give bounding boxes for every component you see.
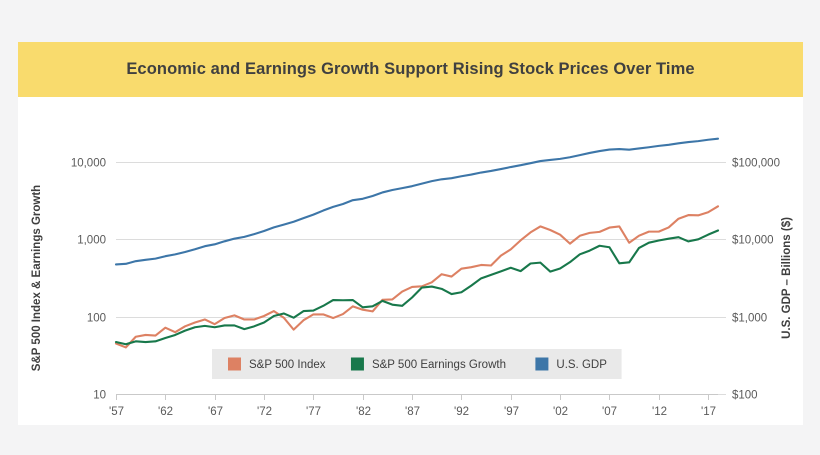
series-line-u-s-gdp <box>116 139 718 265</box>
x-axis-tick-label: '17 <box>701 406 716 418</box>
x-axis-tick-label: '92 <box>454 406 469 418</box>
y-axis-left-tick-label: 10 <box>93 390 106 402</box>
x-axis-tick-label: '77 <box>306 406 321 418</box>
y-axis-left-tick-label: 10,000 <box>71 158 106 170</box>
chart-plot-area: 10,0001,00010010 $100,000$10,000$1,000$1… <box>18 97 803 425</box>
legend-swatch-1[interactable] <box>351 358 364 371</box>
x-axis-tick-label: '72 <box>257 406 272 418</box>
x-axis-tick-label: '97 <box>504 406 519 418</box>
y-axis-right-title: U.S. GDP – Billions ($) <box>781 217 793 339</box>
line-chart: 10,0001,00010010 $100,000$10,000$1,000$1… <box>18 97 803 425</box>
y-axis-left-title: S&P 500 Index & Earnings Growth <box>31 185 43 371</box>
screenshot-root: Economic and Earnings Growth Support Ris… <box>0 0 820 455</box>
chart-card: Economic and Earnings Growth Support Ris… <box>18 42 803 425</box>
series-lines-group <box>116 139 718 348</box>
legend-label-2[interactable]: U.S. GDP <box>556 359 607 371</box>
y-axis-right-tick-label: $100,000 <box>732 158 780 170</box>
legend-swatch-0[interactable] <box>228 358 241 371</box>
x-axis-tick-label: '87 <box>405 406 420 418</box>
legend-label-0[interactable]: S&P 500 Index <box>249 359 326 371</box>
axis-titles-group: S&P 500 Index & Earnings GrowthU.S. GDP … <box>31 185 793 371</box>
y-axis-right-tick-label: $100 <box>732 390 758 402</box>
chart-legend: S&P 500 IndexS&P 500 Earnings GrowthU.S.… <box>212 349 622 379</box>
x-axis-tick-label: '67 <box>208 406 223 418</box>
page-title: Economic and Earnings Growth Support Ris… <box>18 42 803 97</box>
x-axis-tick-label: '82 <box>356 406 371 418</box>
x-axis-tick-label: '62 <box>158 406 173 418</box>
y-axis-left-ticks: 10,0001,00010010 <box>71 158 106 402</box>
y-axis-right-tick-label: $1,000 <box>732 313 767 325</box>
x-axis-tick-label: '02 <box>553 406 568 418</box>
y-axis-right-ticks: $100,000$10,000$1,000$100 <box>718 158 780 402</box>
chart-header-banner: Economic and Earnings Growth Support Ris… <box>18 42 803 97</box>
y-axis-left-tick-label: 1,000 <box>77 235 106 247</box>
legend-swatch-2[interactable] <box>535 358 548 371</box>
x-axis-tick-label: '07 <box>602 406 617 418</box>
y-axis-left-tick-label: 100 <box>87 313 106 325</box>
x-axis-tick-label: '12 <box>652 406 667 418</box>
legend-label-1[interactable]: S&P 500 Earnings Growth <box>372 359 506 371</box>
y-axis-right-tick-label: $10,000 <box>732 235 774 247</box>
x-axis-tick-label: '57 <box>109 406 124 418</box>
x-axis-ticks: '57'62'67'72'77'82'87'92'97'02'07'12'17 <box>109 394 716 418</box>
